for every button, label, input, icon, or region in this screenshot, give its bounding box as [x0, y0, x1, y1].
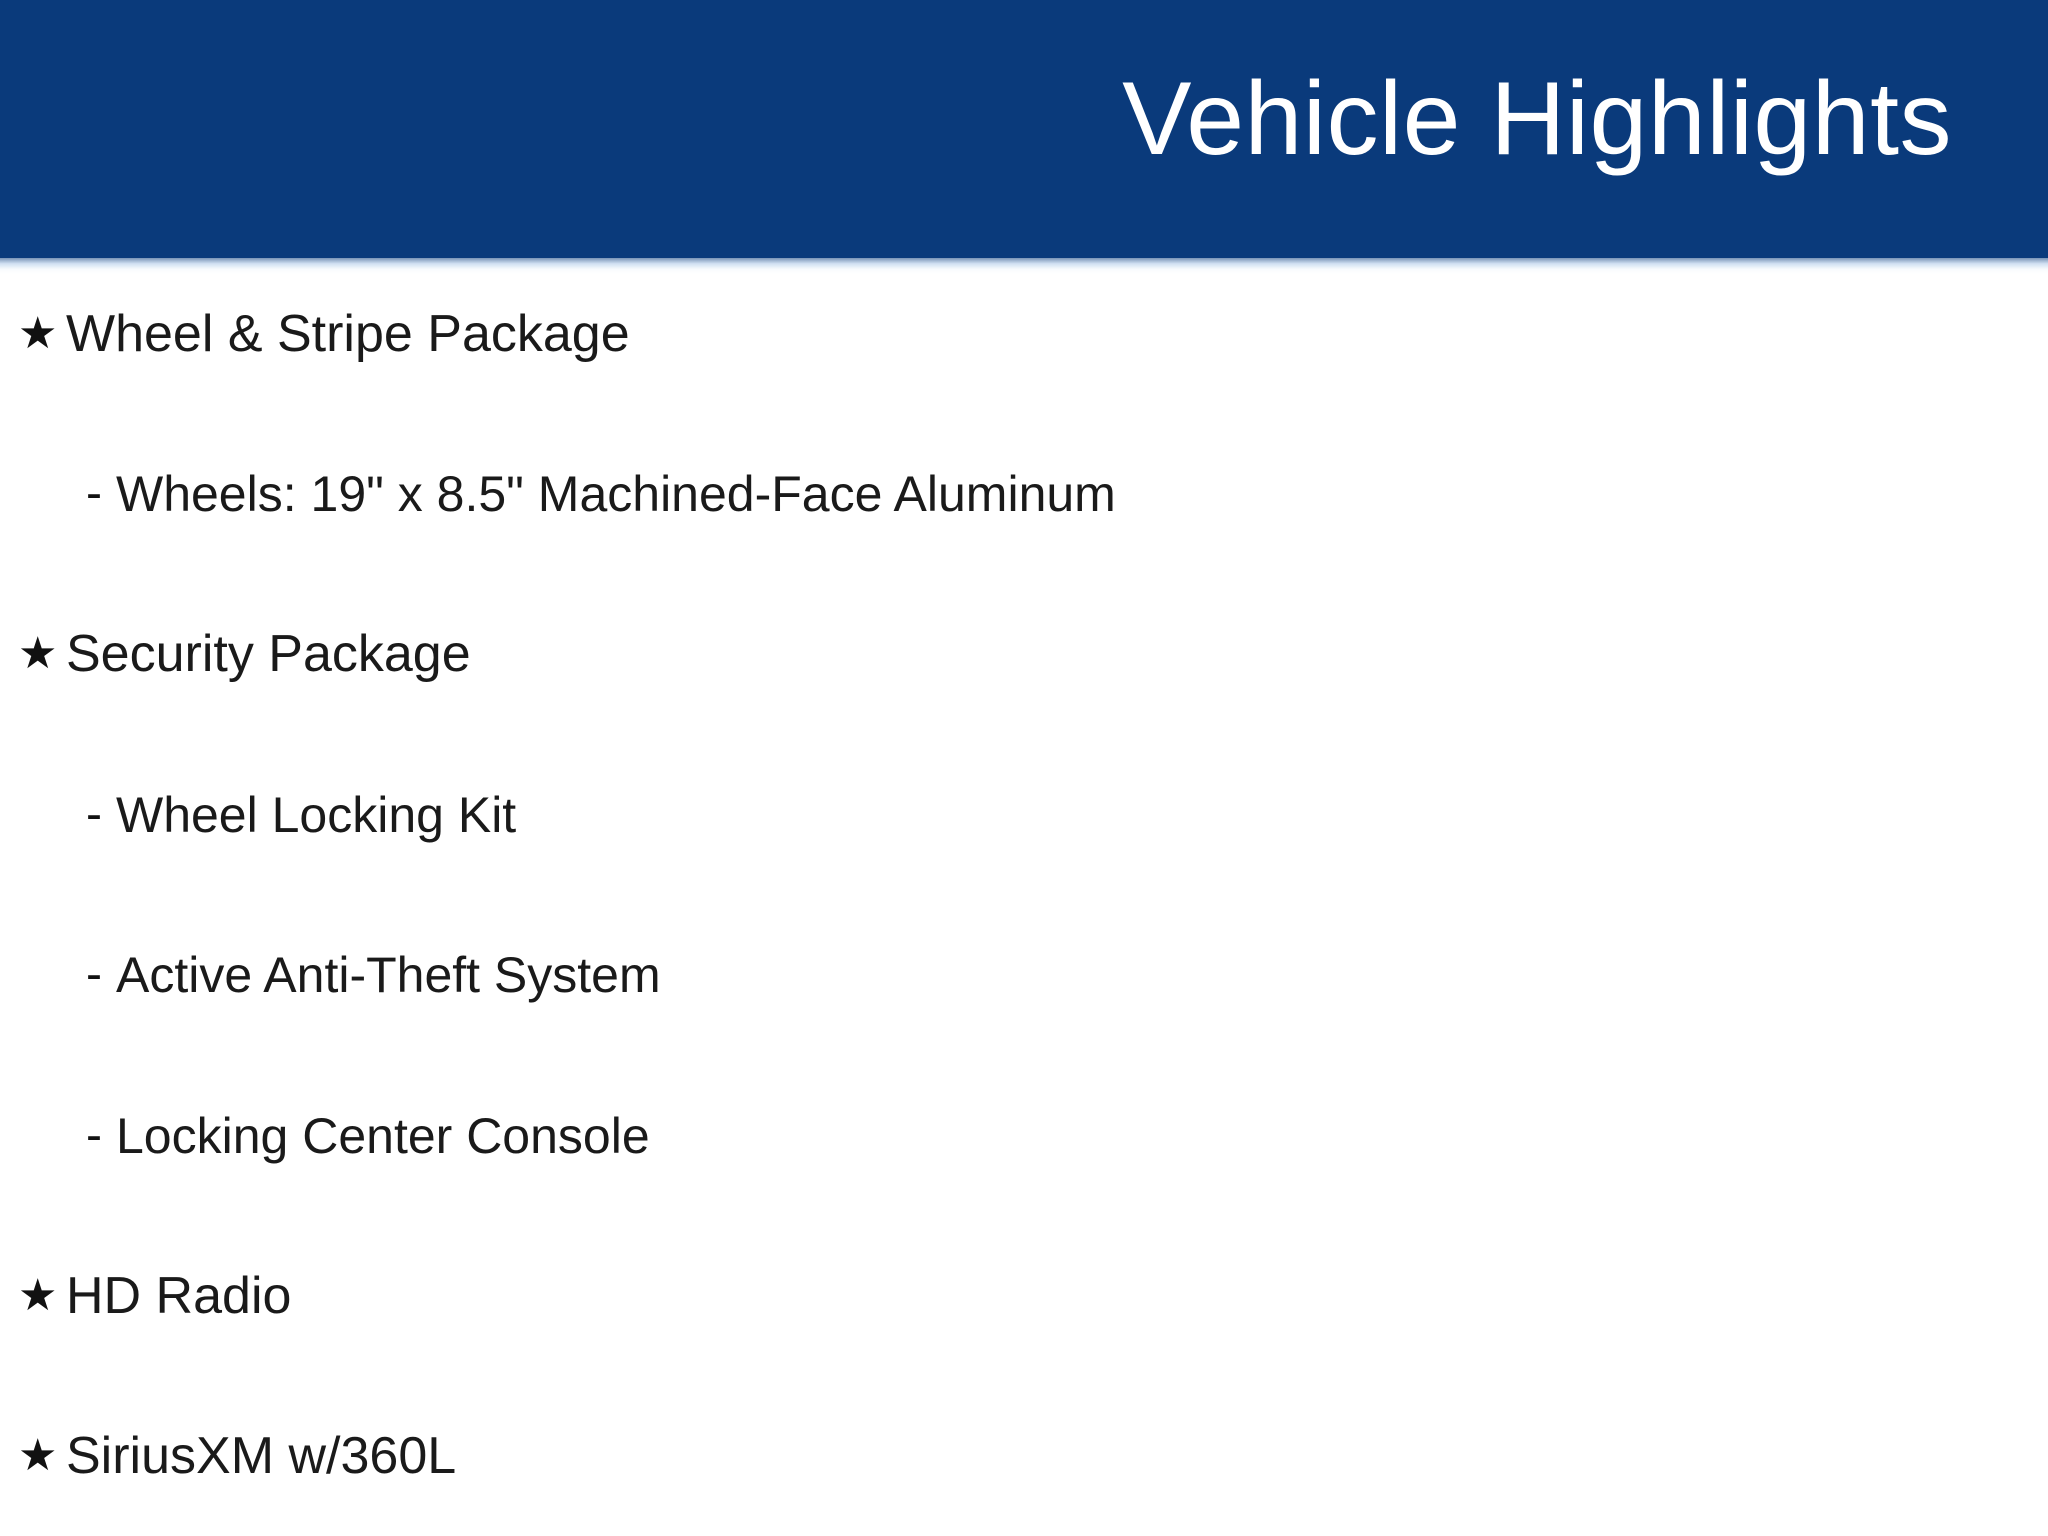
- list-item-sub: -Wheel Locking Kit: [0, 783, 2048, 847]
- page-title: Vehicle Highlights: [1122, 67, 1952, 171]
- dash-bullet-icon: -: [86, 1112, 116, 1160]
- star-bullet-icon: ★: [18, 1434, 66, 1478]
- list-item-label: Active Anti-Theft System: [116, 949, 661, 1002]
- star-bullet-icon: ★: [18, 312, 66, 356]
- list-item-sub: -Wheels: 19" x 8.5" Machined-Face Alumin…: [0, 462, 2048, 526]
- list-item-label: Wheels: 19" x 8.5" Machined-Face Aluminu…: [116, 468, 1116, 521]
- list-item-label: SiriusXM w/360L: [66, 1429, 456, 1484]
- star-bullet-icon: ★: [18, 1274, 66, 1318]
- list-item-label: HD Radio: [66, 1269, 291, 1324]
- list-item-primary: ★Security Package: [0, 622, 2048, 686]
- list-item-sub: -Active Anti-Theft System: [0, 943, 2048, 1007]
- list-item-label: Security Package: [66, 627, 471, 682]
- list-item-label: Wheel Locking Kit: [116, 789, 516, 842]
- dash-bullet-icon: -: [86, 951, 116, 999]
- presentation-slide: Vehicle Highlights ★Wheel & Stripe Packa…: [0, 0, 2048, 1536]
- list-item-sub: -Locking Center Console: [0, 1104, 2048, 1168]
- slide-header-band: Vehicle Highlights: [0, 0, 2048, 258]
- list-item-primary: ★SiriusXM w/360L: [0, 1424, 2048, 1488]
- vehicle-highlights-list: ★Wheel & Stripe Package-Wheels: 19" x 8.…: [0, 258, 2048, 1536]
- dash-bullet-icon: -: [86, 791, 116, 839]
- star-bullet-icon: ★: [18, 632, 66, 676]
- list-item-primary: ★Wheel & Stripe Package: [0, 302, 2048, 366]
- list-item-label: Wheel & Stripe Package: [66, 307, 630, 362]
- dash-bullet-icon: -: [86, 470, 116, 518]
- list-item-label: Locking Center Console: [116, 1110, 650, 1163]
- list-item-primary: ★HD Radio: [0, 1264, 2048, 1328]
